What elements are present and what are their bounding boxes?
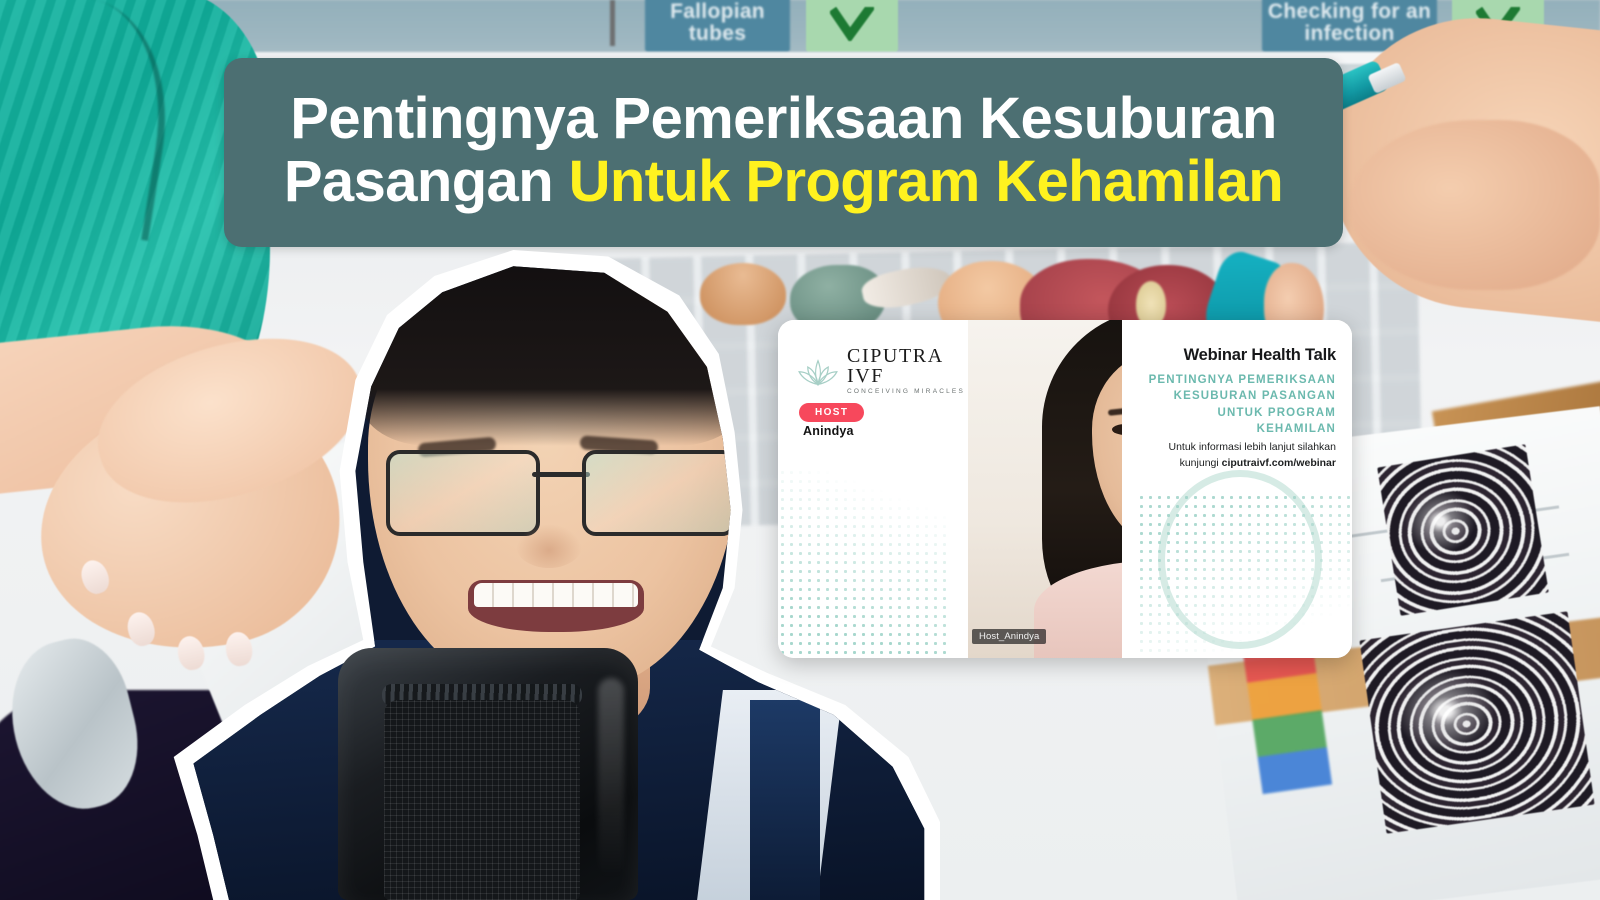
webinar-subheading: Pentingnya Pemeriksaan Kesuburan Pasanga… [1136,372,1336,437]
title-line-2: Pasangan Untuk Program Kehamilan [266,151,1301,214]
title-line-1: Pentingnya Pemeriksaan Kesuburan [266,88,1301,151]
footer-line-1: Untuk informasi lebih lanjut silahkan [1130,440,1336,456]
brand-name: CIPUTRA IVF [847,346,968,386]
condenser-microphone [338,648,638,900]
footer-line-2: kunjungi ciputraivf.com/webinar [1130,456,1336,472]
speaker-hair [362,256,744,446]
host-name: Anindya [803,424,854,438]
webinar-slide-stage: Fallopian tubes Checking for an infectio… [0,0,1600,900]
halftone-dots-decoration [778,468,948,658]
participant-name-label: Host_Anindya [972,629,1046,644]
halftone-dots-decoration [1137,493,1352,658]
webinar-card-left-panel: CIPUTRA IVF CONCEIVING MIRACLES HOST Ani… [778,320,968,658]
ultrasound-printout [1359,611,1594,833]
title-banner: Pentingnya Pemeriksaan Kesuburan Pasanga… [224,58,1343,247]
lotus-icon [796,355,840,387]
doctor-knuckles [1350,120,1600,290]
webinar-card[interactable]: CIPUTRA IVF CONCEIVING MIRACLES HOST Ani… [778,320,1352,658]
host-badge: HOST [799,403,864,422]
webinar-heading: Webinar Health Talk [1136,346,1336,365]
microphone-grille [384,700,580,900]
ciputra-ivf-logo: CIPUTRA IVF CONCEIVING MIRACLES [796,346,968,396]
webinar-url[interactable]: ciputraivf.com/webinar [1222,457,1336,469]
webinar-footer: Untuk informasi lebih lanjut silahkan ku… [1130,440,1336,472]
eyeglasses-icon [386,450,736,534]
check-icon [806,0,898,52]
infographic-divider [610,0,615,46]
speaker-mouth [468,580,644,632]
brand-text: CIPUTRA IVF CONCEIVING MIRACLES [847,346,968,396]
brand-tagline: CONCEIVING MIRACLES [847,389,968,396]
speaker-tie [750,700,820,900]
speaker-nose [516,524,582,568]
footer-prefix: kunjungi [1180,457,1222,469]
ultrasound-printout [1377,444,1549,616]
microphone-highlight [598,678,624,878]
webinar-card-right-panel: Webinar Health Talk Pentingnya Pemeriksa… [1122,320,1352,658]
infographic-label-fallopian-tubes: Fallopian tubes [645,0,790,52]
title-line-2-plain: Pasangan [284,149,569,214]
title-line-2-highlight: Untuk Program Kehamilan [569,149,1284,214]
